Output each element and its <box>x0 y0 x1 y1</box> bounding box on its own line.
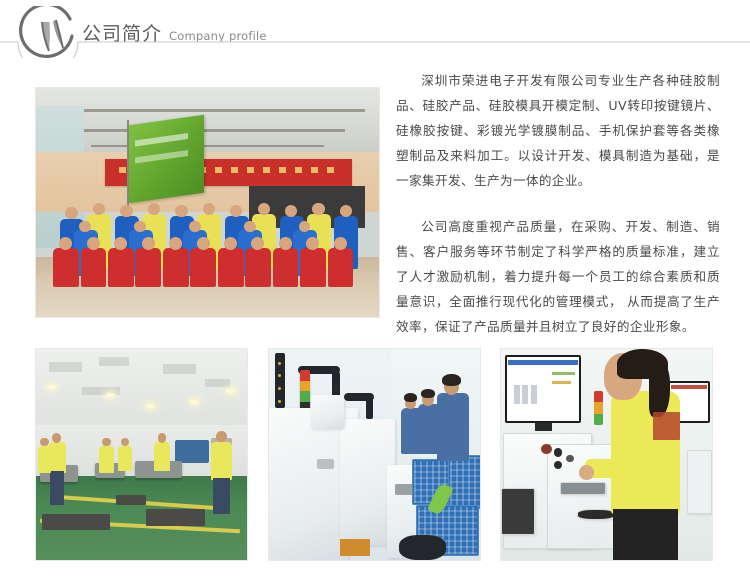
page-header: 公司简介 Company profile <box>0 0 750 70</box>
facility-photo-row <box>35 348 713 561</box>
company-intro-text: 深圳市荣进电子开发有限公司专业生产各种硅胶制品、硅胶产品、硅胶模具开模定制、UV… <box>396 68 720 339</box>
factory-production-line-photo <box>35 348 248 561</box>
cnc-machining-photo <box>268 348 481 561</box>
header-divider <box>0 34 750 58</box>
intro-paragraph-1: 深圳市荣进电子开发有限公司专业生产各种硅胶制品、硅胶产品、硅胶模具开模定制、UV… <box>396 68 720 193</box>
group-photo <box>35 87 380 318</box>
inspection-station-photo <box>500 348 713 561</box>
intro-paragraph-2: 公司高度重视产品质量，在采购、开发、制造、销售、客户服务等环节制定了科学严格的质… <box>396 214 720 339</box>
